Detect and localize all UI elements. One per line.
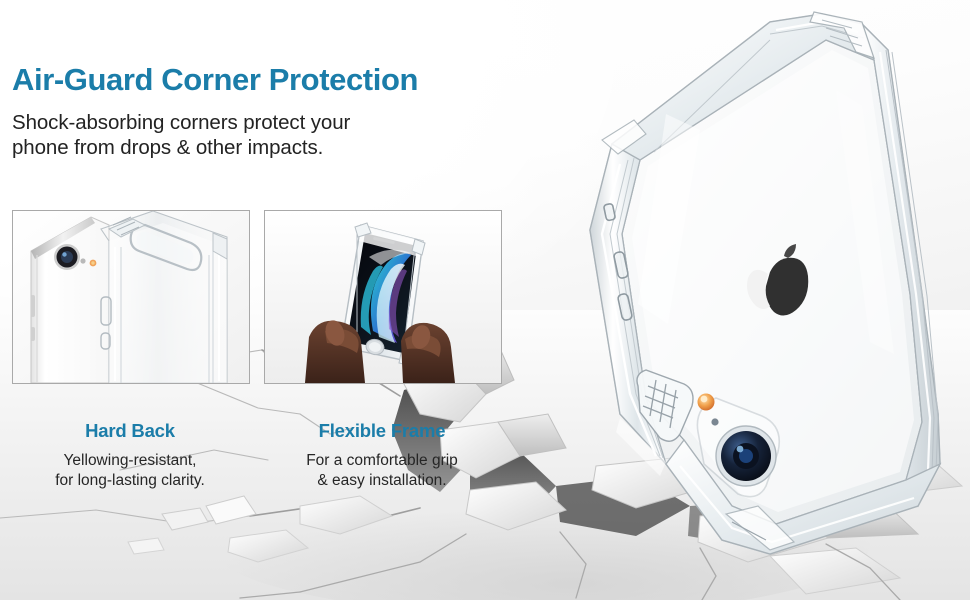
page-title: Air-Guard Corner Protection	[12, 62, 418, 98]
subheadline-line-2: phone from drops & other impacts.	[12, 135, 350, 160]
feature-title-hard-back: Hard Back	[12, 420, 248, 442]
microphone-icon	[711, 418, 718, 425]
feature-desc-line-2: for long-lasting clarity.	[4, 471, 256, 491]
flash-icon	[698, 394, 715, 411]
hero-product-image	[470, 0, 970, 594]
subheadline: Shock-absorbing corners protect your pho…	[12, 110, 350, 160]
feature-desc-line-1: Yellowing-resistant,	[4, 451, 256, 471]
feature-title-flexible-frame: Flexible Frame	[264, 420, 500, 442]
subheadline-line-1: Shock-absorbing corners protect your	[12, 110, 350, 135]
feature-desc-hard-back: Yellowing-resistant, for long-lasting cl…	[4, 451, 256, 490]
feature-image-flexible-frame	[264, 210, 502, 384]
product-feature-banner: Air-Guard Corner Protection Shock-absorb…	[0, 0, 970, 600]
feature-image-hard-back	[12, 210, 250, 384]
